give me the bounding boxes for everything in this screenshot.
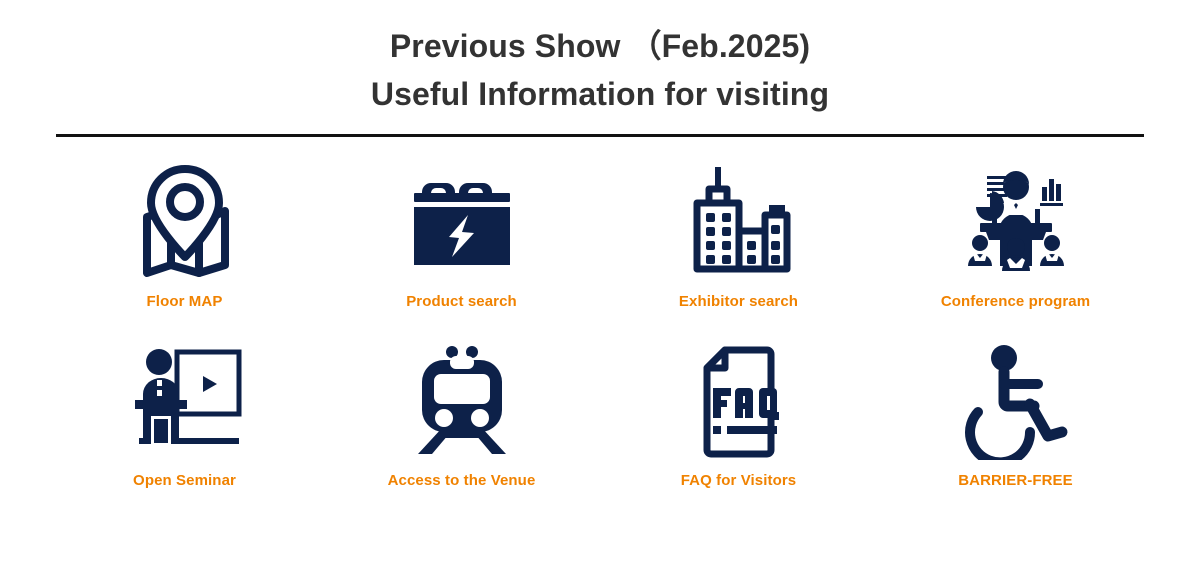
buildings-icon[interactable] bbox=[673, 155, 805, 287]
info-item-label: Product search bbox=[406, 293, 517, 310]
info-item-floor-map[interactable]: Floor MAP bbox=[46, 155, 323, 310]
info-item-label: BARRIER-FREE bbox=[958, 472, 1073, 489]
page-title-line-1: Previous Show （Feb.2025) bbox=[0, 26, 1200, 68]
presenter-podium-audience-icon[interactable] bbox=[950, 155, 1082, 287]
header-divider bbox=[56, 134, 1144, 137]
info-item-exhibitor-search[interactable]: Exhibitor search bbox=[600, 155, 877, 310]
info-item-label: Access to the Venue bbox=[388, 472, 536, 489]
info-item-product-search[interactable]: Product search bbox=[323, 155, 600, 310]
speaker-lectern-screen-icon[interactable] bbox=[119, 334, 251, 466]
info-item-label: FAQ for Visitors bbox=[681, 472, 797, 489]
wheelchair-icon[interactable] bbox=[950, 334, 1082, 466]
map-pin-icon[interactable] bbox=[119, 155, 251, 287]
page-header: Previous Show （Feb.2025) Useful Informat… bbox=[0, 0, 1200, 115]
page-title-line-2: Useful Information for visiting bbox=[0, 74, 1200, 116]
info-item-barrier-free[interactable]: BARRIER-FREE bbox=[877, 334, 1154, 489]
info-item-faq[interactable]: FAQ for Visitors bbox=[600, 334, 877, 489]
info-item-access-to-venue[interactable]: Access to the Venue bbox=[323, 334, 600, 489]
info-item-label: Floor MAP bbox=[147, 293, 223, 310]
info-links-grid: Floor MAP Product search bbox=[0, 155, 1200, 489]
info-item-conference-program[interactable]: Conference program bbox=[877, 155, 1154, 310]
product-battery-icon[interactable] bbox=[396, 155, 528, 287]
info-item-open-seminar[interactable]: Open Seminar bbox=[46, 334, 323, 489]
faq-document-icon[interactable] bbox=[673, 334, 805, 466]
info-item-label: Open Seminar bbox=[133, 472, 236, 489]
train-icon[interactable] bbox=[396, 334, 528, 466]
info-item-label: Conference program bbox=[941, 293, 1090, 310]
info-item-label: Exhibitor search bbox=[679, 293, 798, 310]
previous-show-info-page: Previous Show （Feb.2025) Useful Informat… bbox=[0, 0, 1200, 567]
